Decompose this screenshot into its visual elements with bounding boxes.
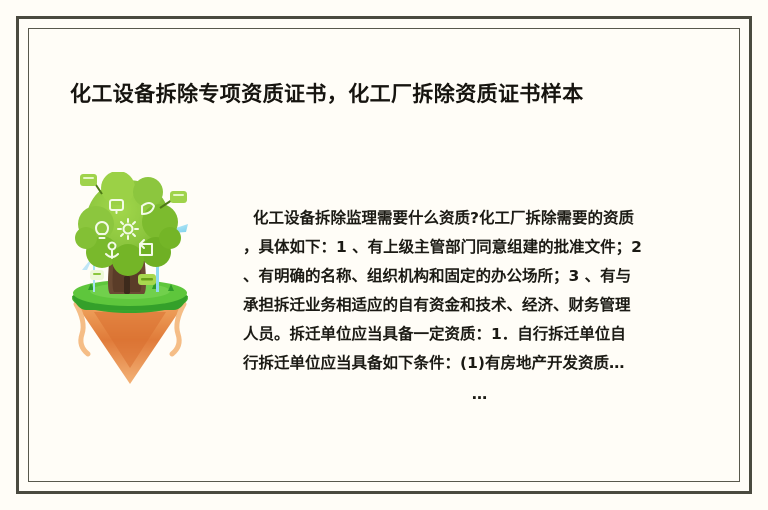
- article-line: 化工设备拆除监理需要什么资质?化工厂拆除需要的资质: [243, 204, 718, 233]
- tag-right: [160, 191, 187, 208]
- article-line: ，具体如下：1 、有上级主管部门同意组建的批准文件；2: [243, 233, 718, 262]
- tag-top-left: [80, 174, 102, 194]
- page-title: 化工设备拆除专项资质证书，化工厂拆除资质证书样本: [70, 78, 584, 108]
- article-line: 人员。拆迁单位应当具备一定资质：1．自行拆迁单位自: [243, 320, 718, 349]
- island-soil: [76, 304, 184, 384]
- page-root: 化工设备拆除专项资质证书，化工厂拆除资质证书样本: [0, 0, 768, 510]
- article-line: 承担拆迁业务相适应的自有资金和技术、经济、财务管理: [243, 291, 718, 320]
- article-continuation: …: [243, 378, 718, 409]
- article-line: 、有明确的名称、组织机构和固定的办公场所；3 、有与: [243, 262, 718, 291]
- eco-island-illustration: [60, 172, 200, 388]
- tag-bottom-right: [138, 274, 156, 285]
- tag-bottom-left: [90, 270, 104, 280]
- article-body: 化工设备拆除监理需要什么资质?化工厂拆除需要的资质 ，具体如下：1 、有上级主管…: [243, 204, 718, 409]
- article-line: 行拆迁单位应当具备如下条件：(1)有房地产开发资质…: [243, 349, 718, 378]
